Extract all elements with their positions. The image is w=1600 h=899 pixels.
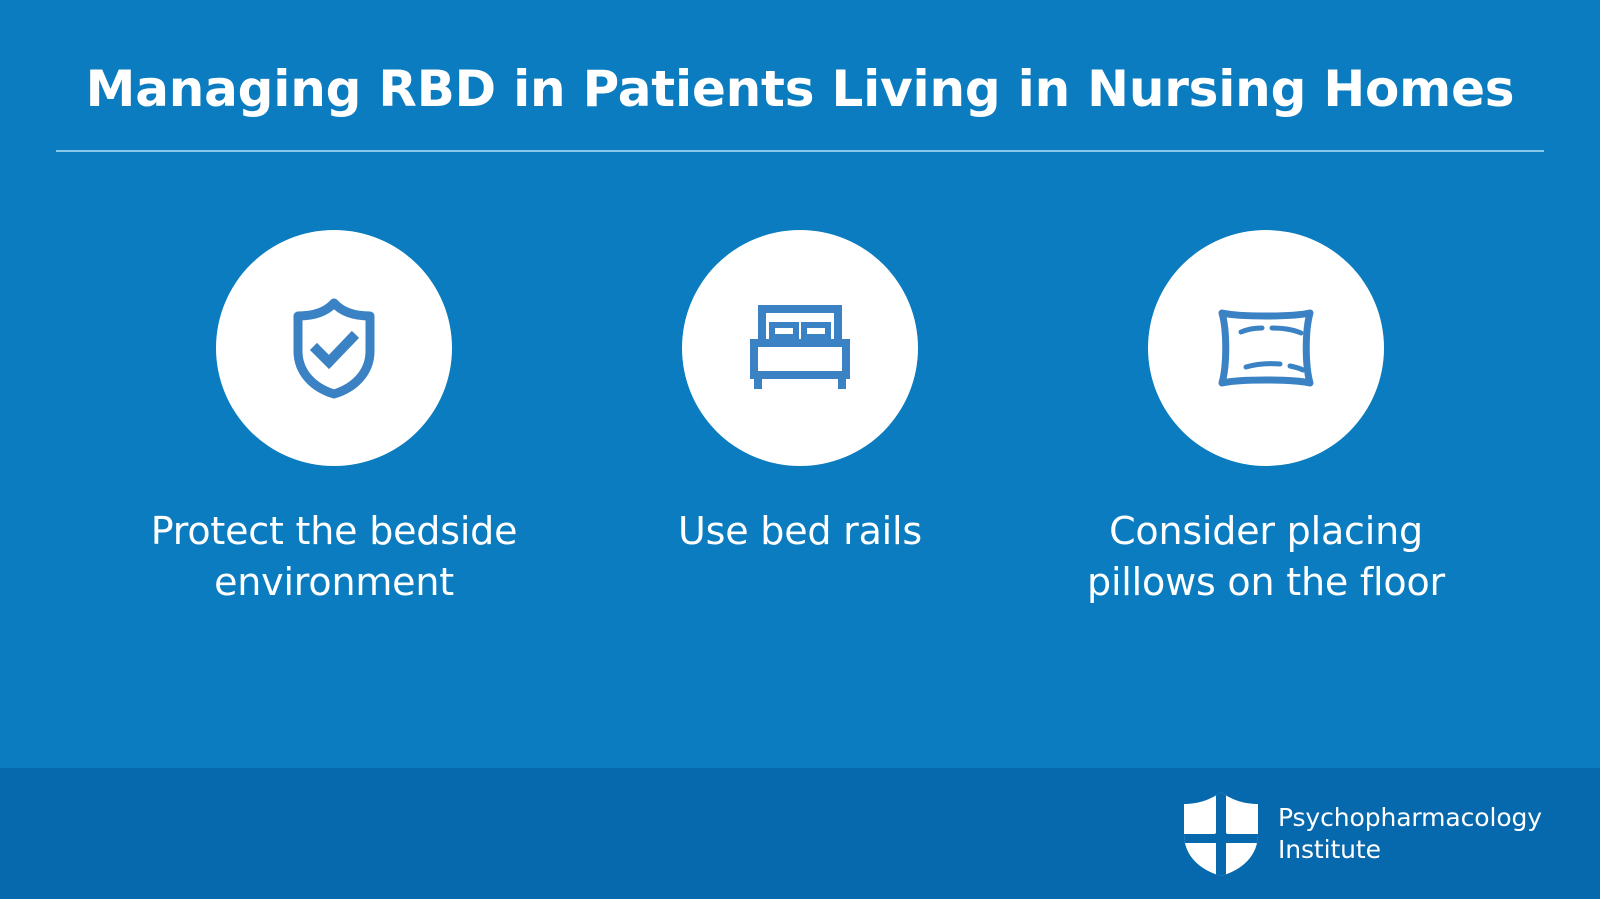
caption-line-1: Protect the bedside [151, 506, 518, 557]
card-protect-bedside: Protect the bedside environment [101, 230, 567, 607]
brand-line-2: Institute [1278, 834, 1542, 866]
card-caption-protect-bedside: Protect the bedside environment [151, 506, 518, 607]
title-divider [56, 150, 1544, 152]
card-caption-pillows-on-floor: Consider placing pillows on the floor [1087, 506, 1445, 607]
bed-icon [748, 301, 852, 395]
icon-circle-pillow [1148, 230, 1384, 466]
title-block: Managing RBD in Patients Living in Nursi… [0, 62, 1600, 116]
card-use-bed-rails: Use bed rails [567, 230, 1033, 557]
caption-line-1: Consider placing [1087, 506, 1445, 557]
card-pillows-on-floor: Consider placing pillows on the floor [1033, 230, 1499, 607]
card-caption-use-bed-rails: Use bed rails [678, 506, 922, 557]
brand-line-1: Psychopharmacology [1278, 803, 1542, 832]
brand-name: Psychopharmacology Institute [1278, 802, 1542, 866]
shield-quadrant-logo [1182, 790, 1260, 878]
pillow-icon [1210, 305, 1322, 391]
caption-line-2: environment [151, 557, 518, 608]
icon-circle-bed [682, 230, 918, 466]
brand-lockup: Psychopharmacology Institute [1182, 790, 1542, 878]
footer-bar: Psychopharmacology Institute [0, 768, 1600, 899]
page-title: Managing RBD in Patients Living in Nursi… [0, 62, 1600, 116]
caption-line-1: Use bed rails [678, 506, 922, 557]
icon-circle-shield [216, 230, 452, 466]
cards-row: Protect the bedside environment [0, 230, 1600, 607]
slide-root: Managing RBD in Patients Living in Nursi… [0, 0, 1600, 899]
shield-check-icon [286, 296, 382, 400]
caption-line-2: pillows on the floor [1087, 557, 1445, 608]
